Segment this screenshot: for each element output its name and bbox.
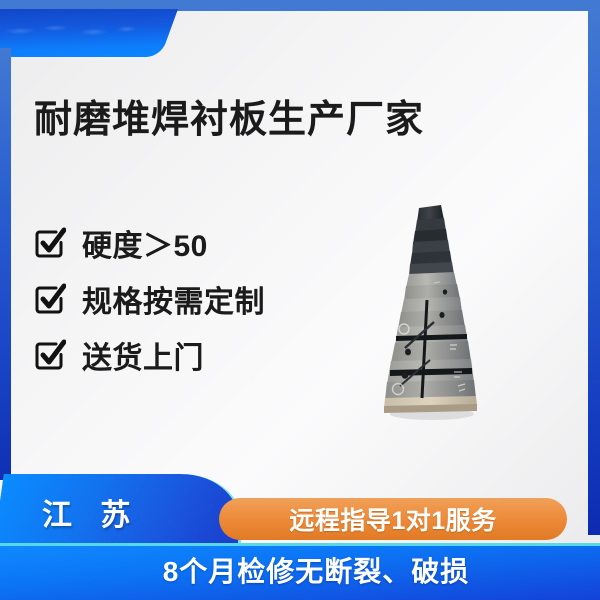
list-item: 规格按需定制 <box>34 278 265 320</box>
warranty-bar-top-line <box>0 543 600 546</box>
checkbox-checked-icon <box>34 227 66 259</box>
top-left-swoosh-shape <box>0 9 178 57</box>
stacked-wear-liner-plates-photo <box>372 200 492 430</box>
list-item: 硬度＞50 <box>34 222 265 264</box>
service-badge: 远程指导1对1服务 <box>219 498 567 540</box>
right-edge-accent-bar <box>588 11 600 535</box>
checkbox-checked-icon <box>34 339 66 371</box>
feature-label: 送货上门 <box>82 333 204 377</box>
promo-poster: 耐磨堆焊衬板生产厂家 硬度＞50 规格按需定制 <box>0 0 600 600</box>
feature-list: 硬度＞50 规格按需定制 送货上门 <box>34 222 265 376</box>
warranty-bar-label: 8个月检修无断裂、破损 <box>0 550 600 590</box>
brand-line-1: 江 苏 <box>42 494 222 538</box>
left-edge-accent-bar <box>0 48 11 480</box>
feature-label: 规格按需定制 <box>82 277 265 321</box>
checkbox-checked-icon <box>34 283 66 315</box>
swoosh-texture <box>0 23 155 47</box>
service-badge-label: 远程指导1对1服务 <box>289 501 496 537</box>
list-item: 送货上门 <box>34 334 265 376</box>
page-title: 耐磨堆焊衬板生产厂家 <box>34 88 424 143</box>
feature-label: 硬度＞50 <box>82 221 208 265</box>
